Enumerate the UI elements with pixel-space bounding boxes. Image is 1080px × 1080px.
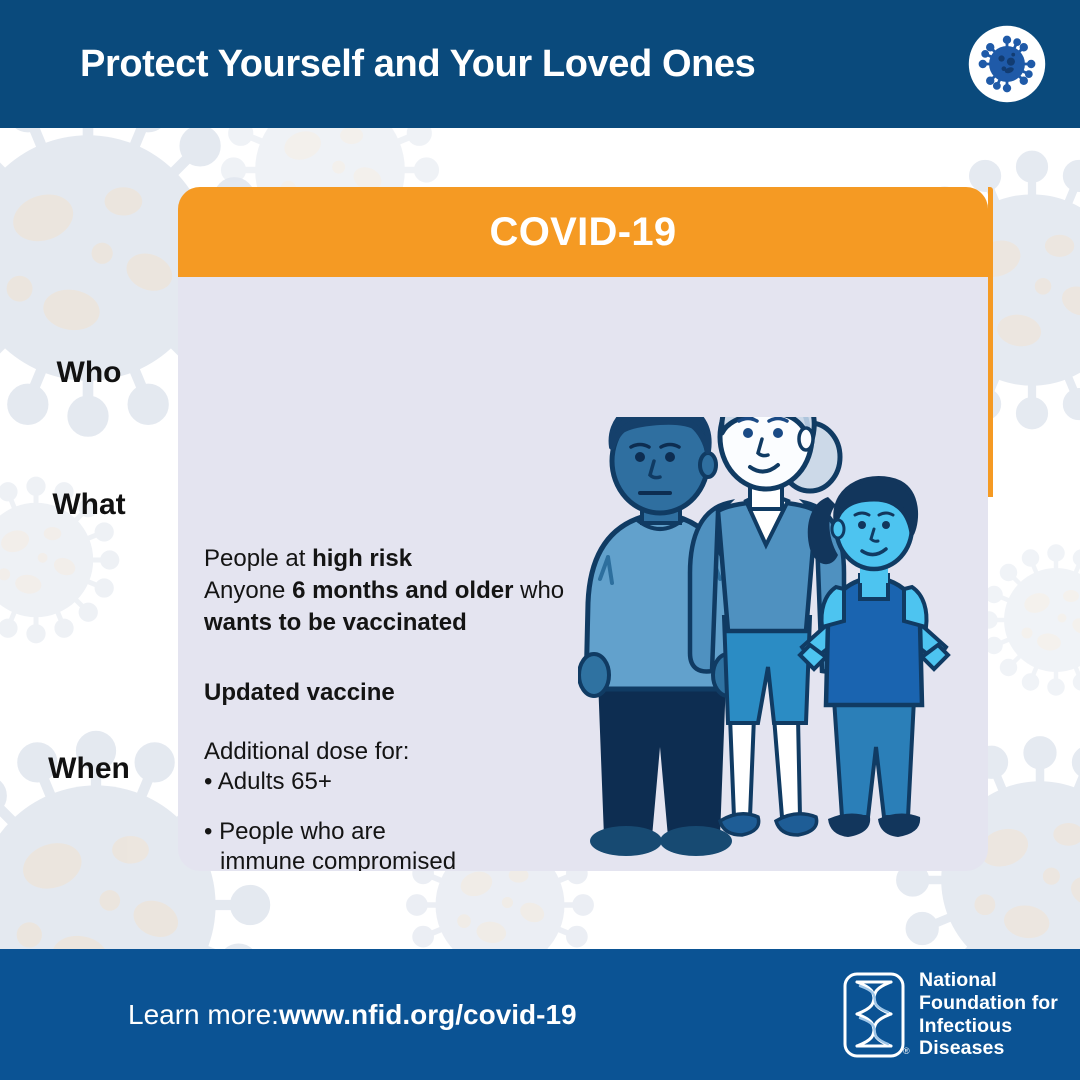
row-label-who: Who: [0, 356, 178, 390]
covid-info-card: COVID-19: [178, 187, 993, 871]
list-spacer: [204, 797, 456, 817]
registered-trademark: ®: [903, 1046, 910, 1056]
infographic-page: Protect Yourself and Your Loved Ones: [0, 0, 1080, 1080]
nfid-logo: ® National Foundation for Infectious Dis…: [843, 949, 1058, 1080]
dose-bullet-2-line-1: • People who are: [204, 817, 456, 847]
learn-more-label: Learn more:: [128, 999, 279, 1031]
nfid-url[interactable]: www.nfid.org/covid-19: [279, 999, 577, 1031]
nfid-wordmark: National Foundation for Infectious Disea…: [919, 969, 1058, 1059]
nfid-word-line-2: Foundation for: [919, 992, 1058, 1015]
family-of-three-illustration: [578, 417, 978, 871]
card-body: People at high risk Anyone 6 months and …: [178, 277, 988, 871]
child-figure: [800, 479, 948, 837]
coronavirus-icon: [968, 25, 1046, 103]
who-text-block: People at high risk Anyone 6 months and …: [204, 543, 564, 639]
who-line-1: People at high risk: [204, 543, 564, 575]
row-label-when: When: [0, 752, 178, 786]
dose-intro: Additional dose for:: [204, 737, 456, 767]
dna-helix-icon: ®: [843, 972, 905, 1058]
dose-bullet-1: • Adults 65+: [204, 767, 456, 797]
card-title: COVID-19: [490, 210, 677, 255]
dose-bullet-2-line-2: immune compromised: [204, 847, 456, 871]
learn-more-line[interactable]: Learn more: www.nfid.org/covid-19: [128, 949, 577, 1080]
page-header: Protect Yourself and Your Loved Ones: [0, 0, 1080, 128]
page-footer: Learn more: www.nfid.org/covid-19: [0, 949, 1080, 1080]
who-line-2: Anyone 6 months and older who: [204, 575, 564, 607]
who-line-3: wants to be vaccinated: [204, 607, 564, 639]
additional-dose-block: Additional dose for: • Adults 65+ • Peop…: [204, 737, 456, 871]
row-label-what: What: [0, 488, 178, 522]
nfid-word-line-1: National: [919, 969, 1058, 992]
nfid-word-line-4: Diseases: [919, 1037, 1058, 1060]
nfid-word-line-3: Infectious: [919, 1015, 1058, 1038]
page-title: Protect Yourself and Your Loved Ones: [80, 0, 755, 128]
what-text-block: Updated vaccine: [204, 677, 395, 709]
card-header-banner: COVID-19: [178, 187, 988, 277]
what-headline: Updated vaccine: [204, 677, 395, 709]
card-orange-edge: [988, 187, 993, 497]
man-figure: [579, 417, 743, 856]
